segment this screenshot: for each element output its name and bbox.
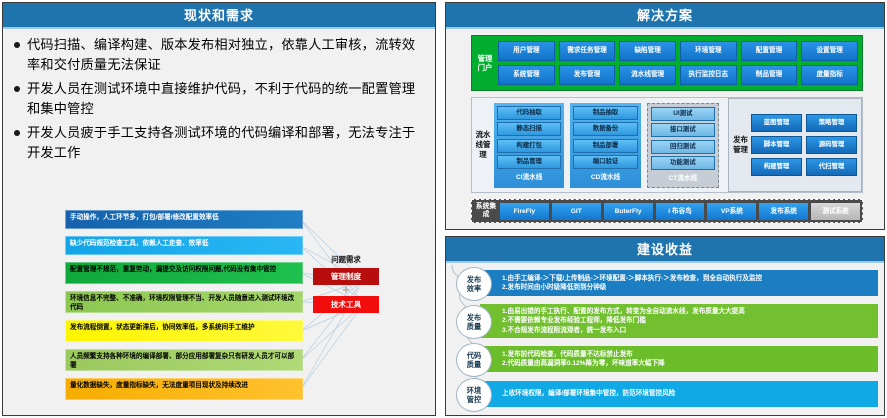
portal-chip-config[interactable]: 配置管理 — [741, 41, 798, 61]
need-title: 问题需求 — [313, 254, 379, 265]
current-state-panel: 现状和需求 代码扫描、编译构建、版本发布相对独立，依靠人工审核，流转效率和交付质… — [2, 2, 436, 416]
problem-row: 配置管理不规范，重复劳动，漏提交及访问权限问题,代码没有集中管控 — [65, 262, 303, 284]
current-state-bullet-list: 代码扫描、编译构建、版本发布相对独立，依靠人工审核，流转效率和交付质量无法保证 … — [3, 29, 435, 169]
pipeline-step-regression-test[interactable]: 回归测试 — [651, 140, 715, 154]
release-chip-code-scan[interactable]: 代扫管理 — [806, 158, 857, 176]
badge-line-2: 效率 — [467, 284, 481, 293]
problem-row: 缺少代码规范检查工具，依赖人工走查、效率低 — [65, 236, 303, 255]
portal-chip-metrics[interactable]: 度量指标 — [801, 65, 858, 85]
release-chip-script[interactable]: 脚本管理 — [751, 136, 802, 154]
portal-chip-artifact[interactable]: 制品管理 — [741, 65, 798, 85]
problem-row: 发布流程倒置，状态更新滞后，协同效率低，多系统间手工维护 — [65, 320, 303, 342]
pipeline-step-static-scan[interactable]: 静态扫描 — [497, 122, 561, 136]
system-integration-group: 系统集成 FireFly GIT ButerFly i 布谷鸟 VP系统 发布系… — [471, 199, 863, 223]
bullet-dot-icon — [14, 42, 20, 48]
bullet-dot-icon — [14, 86, 20, 92]
need-tag-technology: 技术工具 — [313, 296, 379, 313]
solution-panel-title-text: 解决方案 — [637, 3, 693, 29]
benefit-bar: 上收环境权限，编译/部署环境集中管控，防范环境管控风险 — [480, 381, 878, 407]
pipeline-step-port-verify[interactable]: 端口验证 — [573, 155, 637, 169]
problem-requirement-diagram: 手动操作，人工环节多，打包/部署/修改配置效率低 缺少代码规范检查工具，依赖人工… — [3, 206, 437, 417]
benefit-bar: 1.发布前代码检查，代码质量不达标禁止发布 2.代码质量由高漏洞率0.12%降为… — [480, 346, 878, 372]
portal-chip-settings[interactable]: 设置管理 — [801, 41, 858, 61]
badge-line-2: 管控 — [467, 395, 481, 404]
release-chip-blueprint[interactable]: 蓝图管理 — [751, 114, 802, 132]
benefit-line: 1.由手工编译-＞下载/上传制品-＞环境配置-＞脚本执行-＞发布检查，到全自动执… — [502, 274, 872, 284]
pipeline-column-ct: UI测试 接口测试 回归测试 功能测试 CT流水线 — [647, 103, 719, 188]
benefit-line: 1.发布前代码检查，代码质量不达标禁止发布 — [502, 350, 872, 360]
benefit-row: 代码 质量 1.发布前代码检查，代码质量不达标禁止发布 2.代码质量由高漏洞率0… — [450, 343, 878, 375]
bullet-dot-icon — [14, 130, 20, 136]
badge-line-1: 发布 — [467, 313, 481, 322]
benefit-line: 2.代码质量由高漏洞率0.12%降为零，坏味道率大幅下降 — [502, 359, 872, 369]
badge-line-2: 质量 — [467, 322, 481, 331]
pipeline-column-ct-label: CT流水线 — [651, 173, 715, 184]
portal-chip-user[interactable]: 用户管理 — [498, 41, 555, 61]
badge-line-1: 发布 — [467, 275, 481, 284]
benefit-line: 2.发布时间由小时级降低到到分钟级 — [502, 283, 872, 293]
release-chip-build[interactable]: 构建管理 — [751, 158, 802, 176]
problem-row: 环境信息不完整、不准确，环境权限管理不当、开发人员随意进入测试环境改代码 — [65, 291, 303, 313]
bullet-text: 开发人员疲于手工支持各测试环境的代码编译和部署，无法专注于开发工作 — [27, 123, 425, 163]
badge-line-1: 环境 — [467, 386, 481, 395]
benefit-row: 发布 质量 1.由易出错的手工执行、配置的发布方式，转变为全自动流水线，发布质量… — [450, 302, 878, 340]
pipeline-column-ci: 代码抽取 静态扫描 构建打包 制品管理 CI流水线 — [494, 103, 564, 188]
integration-chip-buterfly[interactable]: ButerFly — [604, 203, 653, 220]
pipeline-step-artifact-manage[interactable]: 制品管理 — [497, 155, 561, 169]
pipeline-step-api-test[interactable]: 接口测试 — [651, 123, 715, 137]
release-chip-source-code[interactable]: 源码管理 — [806, 136, 857, 154]
badge-line-2: 质量 — [467, 360, 481, 369]
system-integration-grid: FireFly GIT ButerFly i 布谷鸟 VP系统 发布系统 测试系… — [498, 203, 860, 220]
pipeline-step-data-backup[interactable]: 数据备份 — [573, 122, 637, 136]
benefit-bar: 1.由手工编译-＞下载/上传制品-＞环境配置-＞脚本执行-＞发布检查，到全自动执… — [480, 270, 878, 296]
pipeline-step-ui-test[interactable]: UI测试 — [651, 107, 715, 121]
benefit-badge-code-quality: 代码 质量 — [456, 343, 492, 377]
problem-row: 量化数据缺失，度量指标缺失，无法度量项目现状及持续改进 — [65, 378, 303, 400]
pipeline-step-code-extract[interactable]: 代码抽取 — [497, 106, 561, 120]
slide-canvas: 现状和需求 代码扫描、编译构建、版本发布相对独立，依靠人工审核，流转效率和交付质… — [0, 0, 887, 418]
need-tag-management: 管理制度 — [313, 268, 379, 285]
list-item: 开发人员在测试环境中直接维护代码，不利于代码的统一配置管理和集中管控 — [11, 79, 425, 119]
portal-chip-environment[interactable]: 环境管理 — [680, 41, 737, 61]
left-panel-title: 现状和需求 — [3, 3, 435, 29]
pipeline-columns: 代码抽取 静态扫描 构建打包 制品管理 CI流水线 制品抽取 数据备份 制品部署… — [491, 103, 719, 188]
release-management-label: 发布管理 — [733, 135, 748, 155]
portal-chip-system[interactable]: 系统管理 — [498, 65, 555, 85]
pipeline-step-build-package[interactable]: 构建打包 — [497, 139, 561, 153]
benefit-line: 3.不合规发布流程阻流观者，统一发布入口 — [502, 326, 872, 336]
benefits-panel-title-text: 建设收益 — [637, 237, 693, 263]
pipeline-column-ci-label: CI流水线 — [497, 172, 561, 183]
benefits-panel-title: 建设收益 — [446, 237, 884, 263]
integration-chip-release-system[interactable]: 发布系统 — [759, 203, 808, 220]
problem-requirement-box: 问题需求 管理制度 ✚ 技术工具 — [313, 254, 379, 313]
pipeline-and-release-area: 流水线管理 代码抽取 静态扫描 构建打包 制品管理 CI流水线 制品抽取 数据备… — [471, 97, 863, 193]
release-management-group: 发布管理 蓝图管理 策略管理 脚本管理 源码管理 构建管理 代扫管理 — [728, 98, 862, 192]
list-item: 代码扫描、编译构建、版本发布相对独立，依靠人工审核，流转效率和交付质量无法保证 — [11, 35, 425, 75]
benefit-row: 发布 效率 1.由手工编译-＞下载/上传制品-＞环境配置-＞脚本执行-＞发布检查… — [450, 267, 878, 299]
pipeline-step-function-test[interactable]: 功能测试 — [651, 156, 715, 170]
problem-row: 人员频繁支持各种环境的编译部署、部分应用部署复杂只有研发人员才可以部署 — [65, 349, 303, 371]
release-chip-strategy[interactable]: 策略管理 — [806, 114, 857, 132]
integration-chip-cuckoo[interactable]: i 布谷鸟 — [656, 203, 705, 220]
benefit-badge-release-quality: 发布 质量 — [456, 305, 492, 339]
pipeline-step-artifact-extract[interactable]: 制品抽取 — [573, 106, 637, 120]
pipeline-column-cd-label: CD流水线 — [573, 172, 637, 183]
pipeline-management-label: 流水线管理 — [475, 130, 491, 160]
benefit-line: 1.由易出错的手工执行、配置的发布方式，转变为全自动流水线，发布质量大大提高 — [502, 307, 872, 317]
portal-chip-requirement-task[interactable]: 需求任务管理 — [559, 41, 616, 61]
management-portal-group: 管理门户 用户管理 需求任务管理 缺陷管理 环境管理 配置管理 设置管理 系统管… — [471, 35, 863, 91]
list-item: 开发人员疲于手工支持各测试环境的代码编译和部署，无法专注于开发工作 — [11, 123, 425, 163]
portal-chip-defect[interactable]: 缺陷管理 — [619, 41, 676, 61]
integration-chip-firefly[interactable]: FireFly — [500, 203, 549, 220]
bullet-text: 开发人员在测试环境中直接维护代码，不利于代码的统一配置管理和集中管控 — [27, 79, 425, 119]
integration-chip-vp-system[interactable]: VP系统 — [707, 203, 756, 220]
integration-chip-git[interactable]: GIT — [552, 203, 601, 220]
portal-chip-release[interactable]: 发布管理 — [559, 65, 616, 85]
management-portal-grid: 用户管理 需求任务管理 缺陷管理 环境管理 配置管理 设置管理 系统管理 发布管… — [496, 38, 862, 88]
management-portal-label: 管理门户 — [472, 54, 496, 72]
benefit-line: 上收环境权限，编译/部署环境集中管控，防范环境管控风险 — [502, 389, 872, 399]
pipeline-management-group: 流水线管理 代码抽取 静态扫描 构建打包 制品管理 CI流水线 制品抽取 数据备… — [472, 98, 722, 192]
problem-row: 手动操作，人工环节多，打包/部署/修改配置效率低 — [65, 210, 303, 229]
release-management-grid: 蓝图管理 策略管理 脚本管理 源码管理 构建管理 代扫管理 — [748, 114, 857, 176]
solution-panel-title: 解决方案 — [446, 3, 884, 29]
benefit-badge-release-efficiency: 发布 效率 — [456, 267, 492, 301]
benefit-badge-environment-control: 环境 管控 — [456, 378, 492, 412]
solution-panel: 解决方案 管理门户 用户管理 需求任务管理 缺陷管理 环境管理 配置管理 设置管… — [445, 2, 885, 230]
benefit-line: 2.不需要依赖专业发布经验工程师，降低发布门槛 — [502, 316, 872, 326]
system-integration-label: 系统集成 — [474, 203, 498, 220]
plus-icon: ✚ — [313, 285, 379, 296]
benefits-body: 发布 效率 1.由手工编译-＞下载/上传制品-＞环境配置-＞脚本执行-＞发布检查… — [446, 263, 884, 415]
bullet-text: 代码扫描、编译构建、版本发布相对独立，依靠人工审核，流转效率和交付质量无法保证 — [27, 35, 425, 75]
integration-chip-test-system[interactable]: 测试系统 — [811, 203, 860, 220]
pipeline-column-cd: 制品抽取 数据备份 制品部署 端口验证 CD流水线 — [570, 103, 640, 188]
pipeline-step-artifact-deploy[interactable]: 制品部署 — [573, 139, 637, 153]
left-panel-title-text: 现状和需求 — [184, 3, 254, 29]
solution-body: 管理门户 用户管理 需求任务管理 缺陷管理 环境管理 配置管理 设置管理 系统管… — [446, 29, 884, 229]
portal-chip-exec-monitor-log[interactable]: 执行监控日志 — [680, 65, 737, 85]
portal-chip-pipeline[interactable]: 流水线管理 — [619, 65, 676, 85]
badge-line-1: 代码 — [467, 351, 481, 360]
benefit-row: 环境 管控 上收环境权限，编译/部署环境集中管控，防范环境管控风险 — [450, 378, 878, 410]
benefits-panel: 建设收益 发布 效率 1.由手工编译-＞下载/上传制品-＞环境配置-＞脚本执行-… — [445, 236, 885, 416]
benefit-bar: 1.由易出错的手工执行、配置的发布方式，转变为全自动流水线，发布质量大大提高 2… — [480, 304, 878, 339]
